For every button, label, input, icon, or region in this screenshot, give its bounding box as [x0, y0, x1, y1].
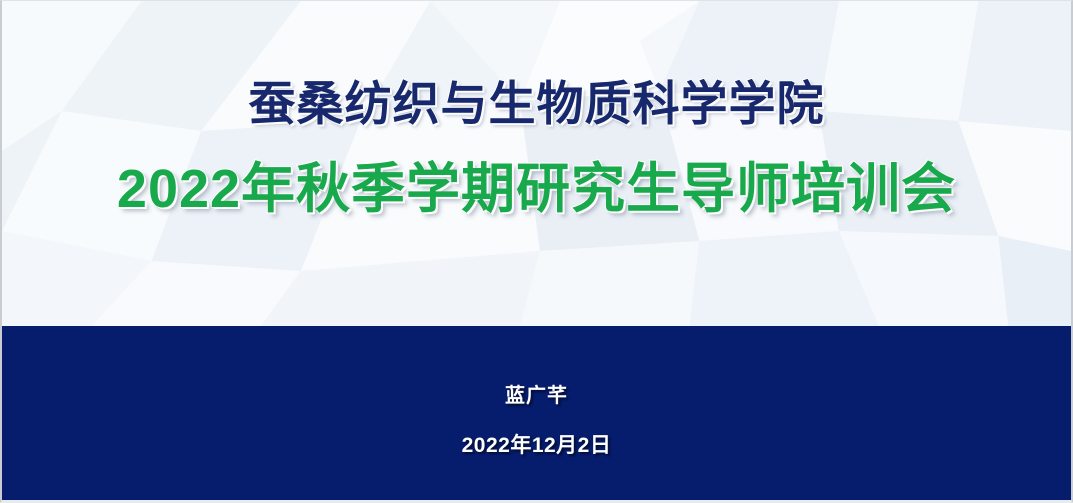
presentation-date: 2022年12月2日: [462, 429, 612, 459]
presentation-slide: 蚕桑纺织与生物质科学学院 2022年秋季学期研究生导师培训会 蓝广芊 2022年…: [0, 0, 1073, 503]
slide-footer-band: 蓝广芊 2022年12月2日: [2, 326, 1071, 501]
slide-title-line-1: 蚕桑纺织与生物质科学学院: [249, 79, 825, 130]
slide-title-area: 蚕桑纺织与生物质科学学院 2022年秋季学期研究生导师培训会: [2, 1, 1071, 326]
slide-title-line-2: 2022年秋季学期研究生导师培训会: [117, 160, 956, 218]
presenter-name: 蓝广芊: [505, 379, 568, 408]
